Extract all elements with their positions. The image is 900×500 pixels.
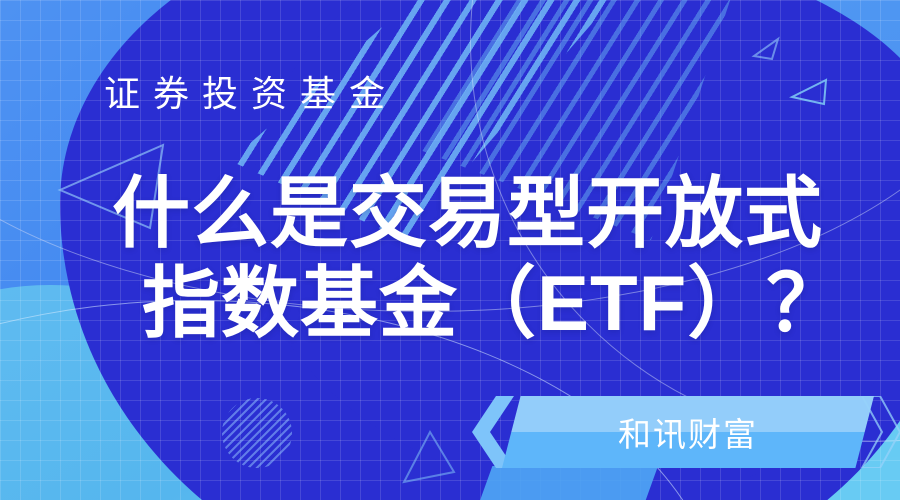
brand-label: 和讯财富 — [502, 396, 874, 468]
triangle-bottom-center-icon — [400, 428, 460, 486]
title-line-1: 什么是交易型开放式 — [112, 169, 823, 257]
page-title: 什么是交易型开放式 指数基金（ETF）？ — [112, 168, 845, 348]
poster-subtitle: 证券投资基金 — [104, 76, 398, 112]
striped-circle-icon — [222, 398, 292, 468]
poster-canvas: 证券投资基金 什么是交易型开放式 指数基金（ETF）？ 和讯财富 — [0, 0, 900, 500]
triangle-top-right-small-icon — [750, 36, 784, 62]
brand-ribbon: 和讯财富 — [470, 392, 900, 472]
triangle-right-icon — [788, 75, 830, 109]
title-line-2: 指数基金（ETF）？ — [112, 258, 845, 348]
